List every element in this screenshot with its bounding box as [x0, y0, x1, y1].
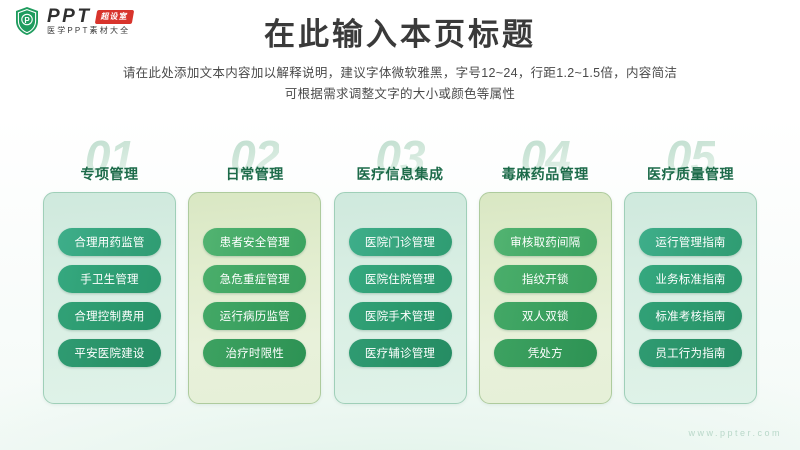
category-card-01: 合理用药监管 手卫生管理 合理控制费用 平安医院建设: [43, 192, 176, 404]
category-item-pill[interactable]: 指纹开锁: [494, 265, 597, 293]
page-subtitle: 请在此处添加文本内容加以解释说明，建议字体微软雅黑，字号12~24，行距1.2~…: [0, 63, 800, 104]
category-item-pill[interactable]: 合理用药监管: [58, 228, 161, 256]
category-item-pill[interactable]: 业务标准指南: [639, 265, 742, 293]
category-card-05: 运行管理指南 业务标准指南 标准考核指南 员工行为指南: [624, 192, 757, 404]
category-item-pill[interactable]: 双人双锁: [494, 302, 597, 330]
category-item-pill[interactable]: 患者安全管理: [203, 228, 306, 256]
category-title-01: 专项管理: [81, 164, 139, 184]
category-item-pill[interactable]: 手卫生管理: [58, 265, 161, 293]
category-card-03: 医院门诊管理 医院住院管理 医院手术管理 医疗辅诊管理: [334, 192, 467, 404]
category-item-pill[interactable]: 急危重症管理: [203, 265, 306, 293]
category-column-01: 01 专项管理 合理用药监管 手卫生管理 合理控制费用 平安医院建设: [42, 134, 177, 404]
category-title-04: 毒麻药品管理: [502, 164, 589, 184]
category-item-pill[interactable]: 医院手术管理: [349, 302, 452, 330]
category-card-02: 患者安全管理 急危重症管理 运行病历监管 治疗时限性: [188, 192, 321, 404]
category-title-05: 医疗质量管理: [647, 164, 734, 184]
category-card-04: 审核取药间隔 指纹开锁 双人双锁 凭处方: [479, 192, 612, 404]
category-item-pill[interactable]: 医院住院管理: [349, 265, 452, 293]
category-item-pill[interactable]: 医疗辅诊管理: [349, 339, 452, 367]
category-columns: 01 专项管理 合理用药监管 手卫生管理 合理控制费用 平安医院建设 02 日常…: [42, 134, 758, 404]
category-item-pill[interactable]: 运行病历监管: [203, 302, 306, 330]
category-item-pill[interactable]: 标准考核指南: [639, 302, 742, 330]
category-item-pill[interactable]: 治疗时限性: [203, 339, 306, 367]
category-column-04: 04 毒麻药品管理 审核取药间隔 指纹开锁 双人双锁 凭处方: [478, 134, 613, 404]
category-title-03: 医疗信息集成: [357, 164, 444, 184]
category-column-03: 03 医疗信息集成 医院门诊管理 医院住院管理 医院手术管理 医疗辅诊管理: [333, 134, 468, 404]
category-item-pill[interactable]: 平安医院建设: [58, 339, 161, 367]
category-item-pill[interactable]: 医院门诊管理: [349, 228, 452, 256]
page-title: 在此输入本页标题: [0, 16, 800, 53]
category-column-02: 02 日常管理 患者安全管理 急危重症管理 运行病历监管 治疗时限性: [187, 134, 322, 404]
category-item-pill[interactable]: 审核取药间隔: [494, 228, 597, 256]
category-item-pill[interactable]: 合理控制费用: [58, 302, 161, 330]
category-item-pill[interactable]: 运行管理指南: [639, 228, 742, 256]
category-item-pill[interactable]: 员工行为指南: [639, 339, 742, 367]
site-watermark: www.ppter.com: [688, 428, 782, 438]
page-subtitle-line-2: 可根据需求调整文字的大小或颜色等属性: [0, 84, 800, 105]
page-subtitle-line-1: 请在此处添加文本内容加以解释说明，建议字体微软雅黑，字号12~24，行距1.2~…: [0, 63, 800, 84]
category-column-05: 05 医疗质量管理 运行管理指南 业务标准指南 标准考核指南 员工行为指南: [623, 134, 758, 404]
category-item-pill[interactable]: 凭处方: [494, 339, 597, 367]
category-title-02: 日常管理: [226, 164, 284, 184]
slide-canvas: P PPT 超设室 医学PPT素材大全 在此输入本页标题 请在此处添加文本内容加…: [0, 0, 800, 450]
